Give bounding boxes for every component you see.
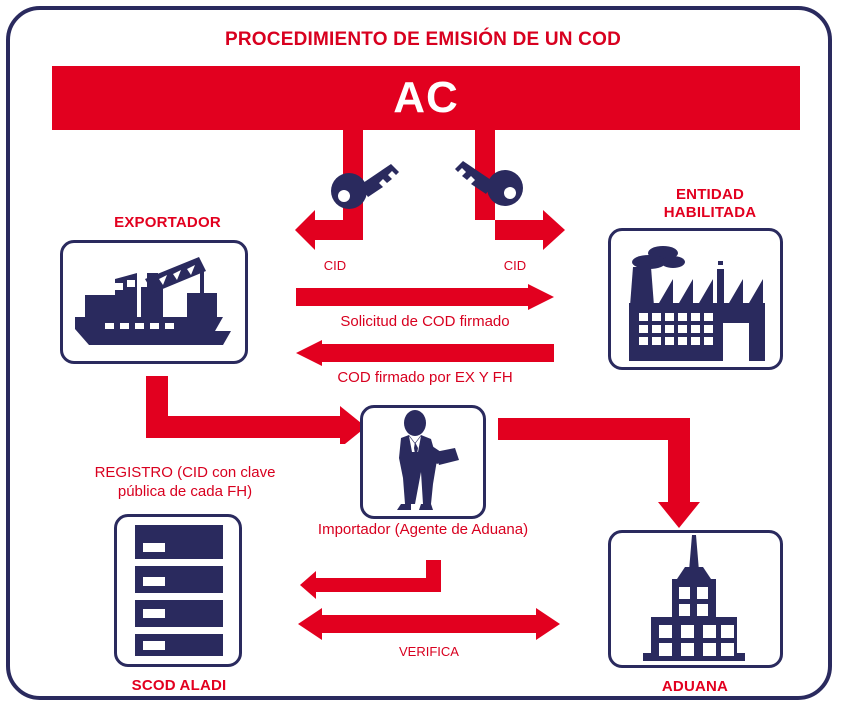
factory-icon [611, 231, 780, 367]
key-icon [330, 158, 406, 214]
flow-arrow-verifica [298, 608, 560, 640]
ac-banner: AC [52, 66, 800, 130]
key-icon-right-wrap [448, 155, 524, 216]
node-label-exportador: EXPORTADOR [60, 214, 275, 232]
flow-label-verifica: VERIFICA [300, 642, 558, 661]
flow-arrow-importador-scod [300, 560, 446, 604]
businessman-icon [363, 408, 483, 516]
flow-arrow-cod-firmado [296, 340, 554, 366]
server-rack-icon [117, 517, 239, 664]
flow-arrow-importador-aduana [498, 418, 710, 528]
node-box-importador[interactable] [360, 405, 486, 519]
node-label-aduana: ADUANA [600, 678, 790, 696]
node-box-exportador[interactable] [60, 240, 248, 364]
flow-label-cid-right: CID [480, 256, 550, 275]
node-label-entidad-line2: HABILITADA [610, 204, 810, 222]
key-icon-left-wrap [330, 158, 406, 219]
flow-arrow-exportador-importador [146, 376, 366, 444]
ac-banner-label: AC [52, 66, 800, 130]
node-caption-scod-line1: REGISTRO (CID con clave [62, 463, 308, 482]
flow-arrow-solicitud [296, 284, 554, 310]
key-icon [448, 155, 524, 211]
node-box-entidad-habilitada[interactable] [608, 228, 783, 370]
node-caption-scod-line2: pública de cada FH) [62, 482, 308, 501]
node-label-entidad-line1: ENTIDAD [610, 186, 810, 204]
page-title: PROCEDIMIENTO DE EMISIÓN DE UN COD [0, 29, 846, 51]
flow-label-solicitud: Solicitud de COD firmado [280, 312, 570, 331]
customs-building-icon [611, 533, 780, 665]
node-box-scod-aladi[interactable] [114, 514, 242, 667]
diagram-canvas: PROCEDIMIENTO DE EMISIÓN DE UN COD AC [0, 0, 846, 712]
node-label-scod-aladi: SCOD ALADI [66, 677, 292, 695]
node-box-aduana[interactable] [608, 530, 783, 668]
flow-label-cid-left: CID [300, 256, 370, 275]
cargo-ship-icon [63, 243, 245, 361]
